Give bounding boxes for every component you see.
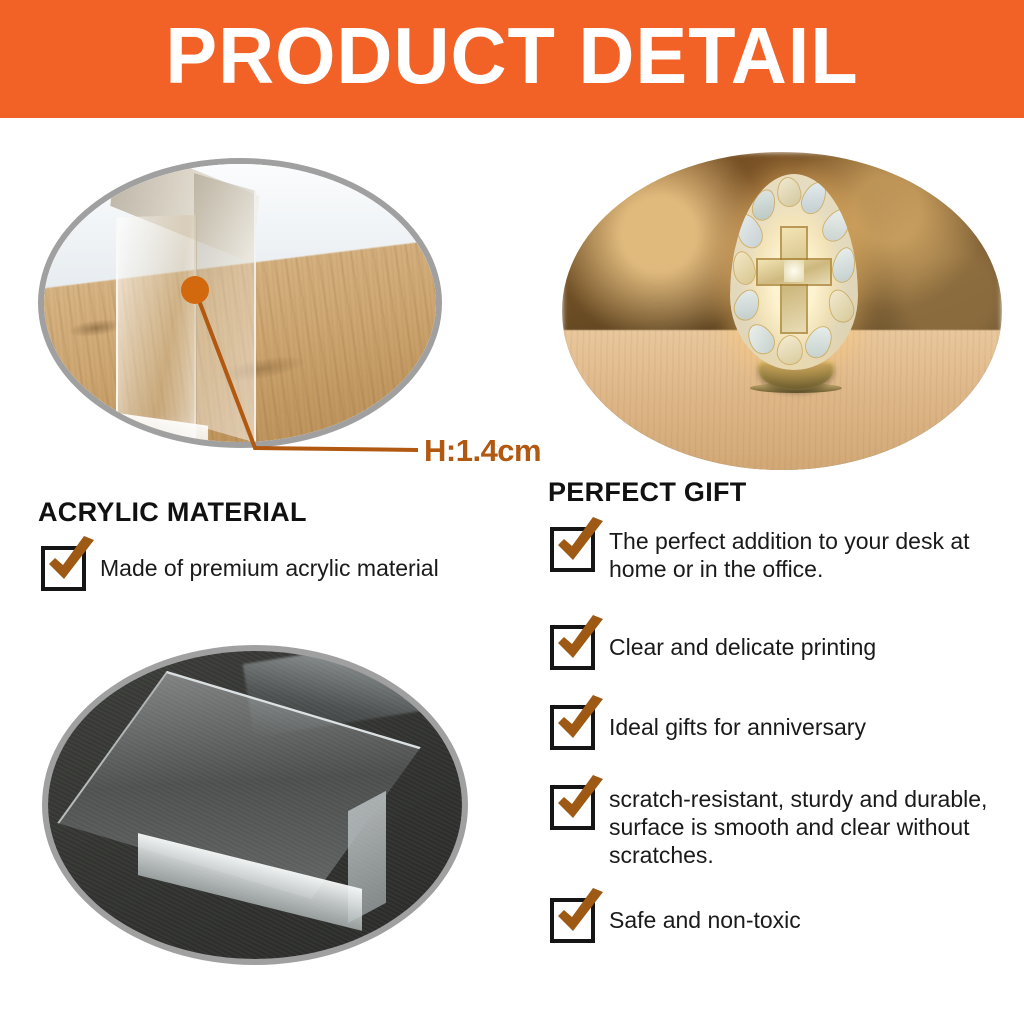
acrylic-edge-photo — [38, 158, 442, 448]
height-callout-label: H:1.4cm — [424, 433, 541, 469]
checkbox-checked-icon — [550, 705, 595, 750]
feature-item: scratch-resistant, sturdy and durable, s… — [550, 785, 1000, 869]
feature-item-label: Ideal gifts for anniversary — [609, 713, 866, 741]
cross-center-gem — [784, 260, 804, 282]
feature-item-label: scratch-resistant, sturdy and durable, s… — [609, 785, 1000, 869]
section-heading-perfect-gift: PERFECT GIFT — [548, 477, 747, 508]
checkbox-checked-icon — [550, 898, 595, 943]
lamp-brand-mark — [772, 210, 818, 222]
checkmark-glyph — [549, 693, 611, 755]
checkmark-glyph — [549, 886, 611, 948]
mosaic-tile — [831, 246, 858, 283]
product-detail-page: PRODUCT DETAIL — [0, 0, 1024, 1024]
feature-item-label: Safe and non-toxic — [609, 906, 801, 934]
mosaic-tile — [777, 335, 804, 365]
feature-item-label: Made of premium acrylic material — [100, 554, 439, 582]
checkbox-checked-icon — [41, 546, 86, 591]
mosaic-tile — [731, 250, 757, 285]
section-heading-acrylic-material: ACRYLIC MATERIAL — [38, 497, 307, 528]
checkbox-checked-icon — [550, 625, 595, 670]
mosaic-tile — [731, 287, 763, 323]
feature-item: Clear and delicate printing — [550, 625, 990, 670]
feature-item: Safe and non-toxic — [550, 898, 990, 943]
checkbox-checked-icon — [550, 785, 595, 830]
mosaic-tile — [776, 177, 802, 208]
feature-item: The perfect addition to your desk at hom… — [550, 527, 990, 583]
checkmark-glyph — [549, 613, 611, 675]
checkbox-checked-icon — [550, 527, 595, 572]
egg-lamp-photo — [562, 152, 1002, 470]
acrylic-block-photo — [42, 645, 468, 965]
mosaic-tile — [802, 323, 836, 362]
feature-item-label: The perfect addition to your desk at hom… — [609, 527, 990, 583]
page-title: PRODUCT DETAIL — [15, 0, 1008, 118]
checkmark-glyph — [549, 515, 611, 577]
feature-item: Ideal gifts for anniversary — [550, 705, 990, 750]
acrylic-edge-photo-content — [44, 164, 436, 442]
mosaic-tile — [825, 287, 857, 325]
acrylic-block-front-face — [116, 215, 197, 448]
feature-item-label: Clear and delicate printing — [609, 633, 876, 661]
acrylic-block-side-face — [194, 173, 256, 443]
checkmark-glyph — [549, 773, 611, 835]
checkmark-glyph — [40, 534, 102, 596]
feature-item: Made of premium acrylic material — [41, 546, 511, 591]
